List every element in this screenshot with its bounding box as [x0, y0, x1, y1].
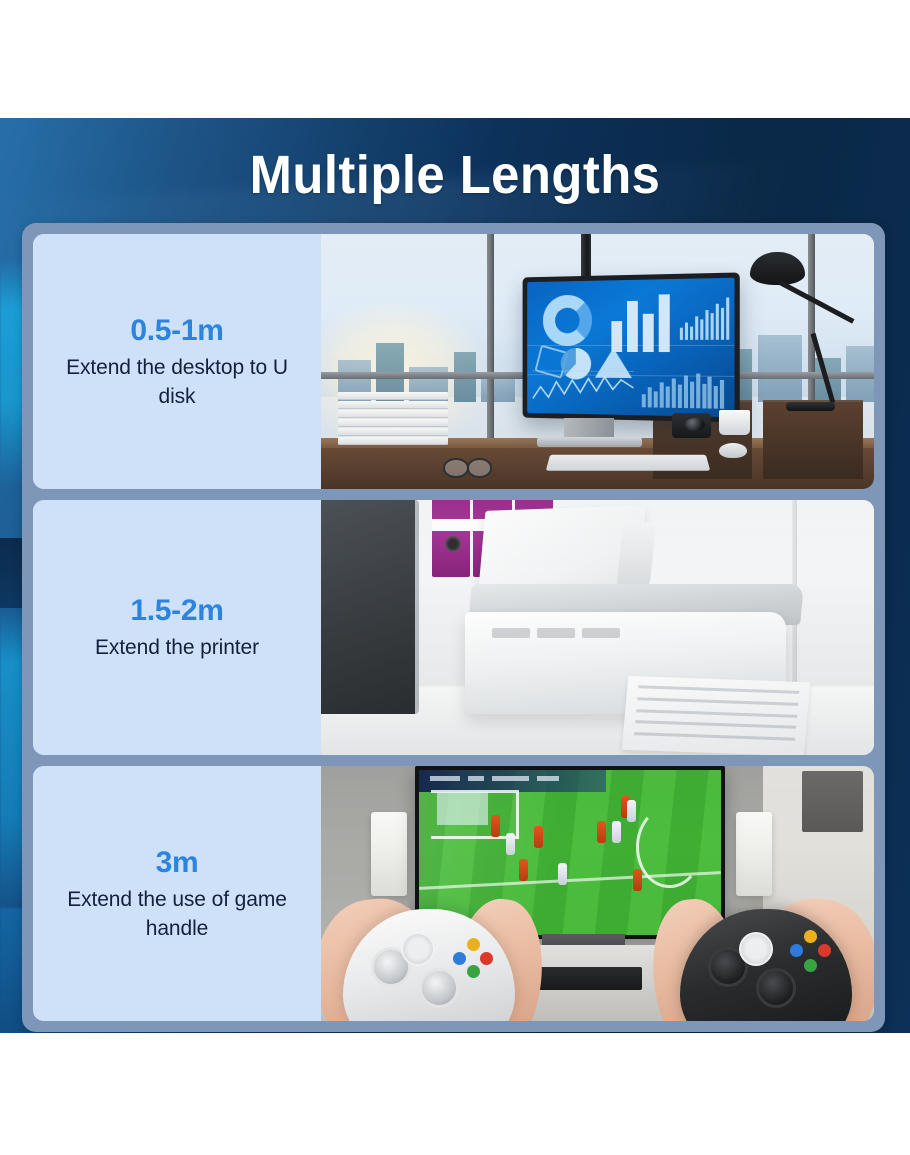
page-title: Multiple Lengths [27, 145, 882, 205]
monitor-screen [528, 278, 736, 418]
desk-lamp-base [786, 402, 836, 411]
card-text-panel: 3m Extend the use of game handle [33, 766, 321, 1021]
black-controller-b-button [818, 944, 831, 957]
length-card-list: 0.5-1m Extend the desktop to U disk [22, 223, 885, 1032]
page-root: Multiple Lengths 0.5-1m Extend the deskt… [0, 0, 910, 1155]
card-length-label: 0.5-1m [130, 313, 223, 349]
wall-dark-panel [802, 771, 863, 832]
monitor-stand-base [537, 437, 642, 447]
camera [672, 413, 711, 439]
player-red [534, 826, 543, 848]
card-length-label: 3m [156, 845, 199, 881]
sparkline-bars-graphic [681, 294, 729, 339]
computer-mouse [719, 443, 747, 458]
line-chart-graphic [533, 370, 634, 407]
player-red [597, 821, 606, 843]
area-chart-graphic [642, 372, 728, 409]
white-controller-y-button [467, 938, 480, 951]
eyeglasses [443, 458, 493, 473]
printed-page [622, 675, 811, 755]
card-length-label: 1.5-2m [130, 593, 223, 629]
player-white [506, 833, 515, 855]
desk-drawer-right [763, 400, 863, 479]
game-console [531, 967, 642, 990]
player-red [633, 869, 642, 891]
speaker-left [371, 812, 407, 896]
printer-control-buttons[interactable] [492, 628, 619, 638]
length-card[interactable]: 3m Extend the use of game handle [33, 766, 874, 1021]
coffee-cup [719, 410, 749, 436]
player-red [519, 859, 528, 881]
desk-monitor-dashboard-photo [321, 234, 874, 489]
white-controller-a-button [467, 965, 480, 978]
player-white [627, 800, 636, 822]
card-description: Extend the desktop to U disk [47, 353, 307, 411]
white-controller-right-stick [419, 968, 459, 1008]
donut-chart-graphic [543, 294, 592, 345]
player-red [491, 815, 500, 837]
black-controller-x-button [790, 944, 803, 957]
paper-stack [338, 392, 449, 453]
keyboard [545, 454, 710, 470]
white-inkjet-printer-photo [321, 500, 874, 755]
black-controller-y-button [804, 930, 817, 943]
game-controllers-tv-photo [321, 766, 874, 1021]
goal-net [437, 792, 488, 825]
white-controller-guide-button [401, 932, 435, 966]
player-white [558, 863, 567, 885]
speaker-right [736, 812, 772, 896]
card-text-panel: 1.5-2m Extend the printer [33, 500, 321, 755]
card-description: Extend the printer [95, 633, 259, 662]
bar-chart-graphic [611, 291, 674, 351]
computer-monitor [523, 272, 740, 422]
card-description: Extend the use of game handle [47, 885, 307, 943]
monitor-stand [564, 418, 614, 438]
paper-guide [616, 523, 656, 584]
length-card[interactable]: 0.5-1m Extend the desktop to U disk [33, 234, 874, 489]
black-controller-a-button [804, 959, 817, 972]
white-controller-x-button [453, 952, 466, 965]
card-text-panel: 0.5-1m Extend the desktop to U disk [33, 234, 321, 489]
length-card[interactable]: 1.5-2m Extend the printer [33, 500, 874, 755]
hero-panel: Multiple Lengths 0.5-1m Extend the deskt… [0, 118, 910, 1033]
score-hud [419, 770, 606, 792]
black-controller-guide-button [739, 932, 773, 966]
black-controller-right-stick [756, 968, 796, 1008]
dark-monitor-side [321, 500, 419, 714]
white-controller-b-button [480, 952, 493, 965]
player-white [612, 821, 621, 843]
